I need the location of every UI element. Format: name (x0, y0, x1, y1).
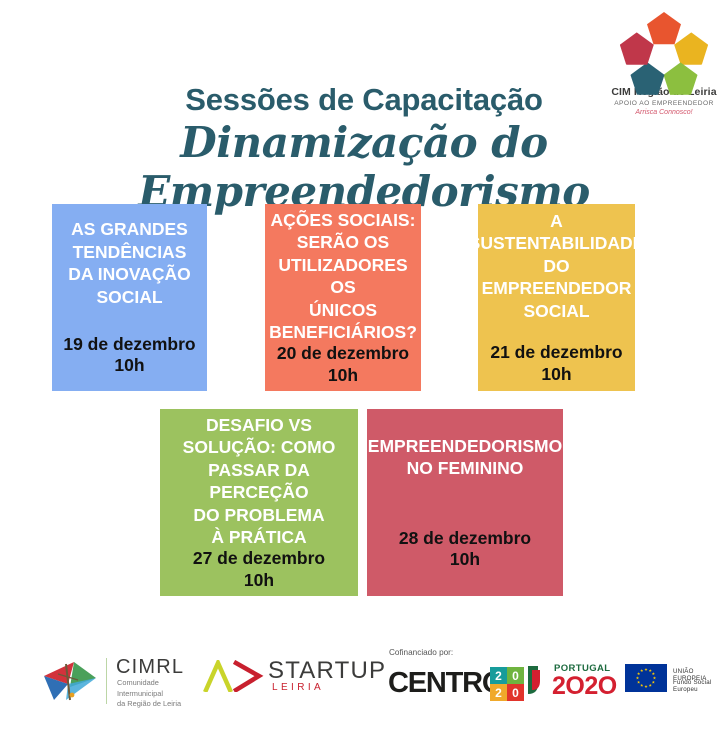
session-title: EMPREENDEDORISMO NO FEMININO (368, 435, 562, 480)
poster-title-primary: Sessões de Capacitação (0, 82, 728, 118)
session-date: 21 de dezembro (490, 342, 622, 363)
eu-star-icon (637, 681, 640, 684)
session-time: 10h (541, 364, 571, 385)
eu-star-icon (644, 685, 647, 688)
cimrl-logo: CIMRL Comunidade Intermunicipal da Regiã… (44, 652, 204, 708)
eu-star-icon (649, 684, 652, 687)
footer: CIMRL Comunidade Intermunicipal da Regiã… (0, 640, 728, 730)
session-title: AS GRANDES TENDÊNCIAS DA INOVAÇÃO SOCIAL (68, 218, 191, 308)
european-union-logo: UNIÃO EUROPEIA Fundo Social Europeu (625, 662, 727, 702)
session-date: 20 de dezembro (277, 343, 409, 364)
startup-chevron-icon (202, 660, 264, 692)
eu-line2: Fundo Social Europeu (673, 679, 727, 693)
session-card-4[interactable]: DESAFIO VS SOLUÇÃO: COMO PASSAR DA PERCE… (160, 409, 358, 596)
centro-digit-grid: 2 0 2 0 (490, 667, 524, 701)
centro-2020-logo: CENTRO 2 0 2 0 (388, 666, 518, 704)
startup-sub: LEIRIA (272, 682, 324, 693)
eu-star-icon (640, 669, 643, 672)
cimrl-divider (106, 658, 107, 704)
session-title: AÇÕES SOCIAIS: SERÃO OS UTILIZADORES OS … (269, 209, 417, 343)
session-time: 10h (450, 549, 480, 570)
session-time: 10h (114, 355, 144, 376)
session-card-3[interactable]: A SUSTENTABILIDADE DO EMPREENDEDOR SOCIA… (478, 204, 635, 391)
eu-star-icon (640, 684, 643, 687)
session-time: 10h (328, 365, 358, 386)
centro-digit: 0 (507, 684, 524, 701)
poster-title-secondary: Dinamização do Empreendedorismo (0, 118, 728, 216)
session-date: 27 de dezembro (193, 548, 325, 569)
eu-star-icon (652, 672, 655, 675)
eu-star-icon (653, 676, 656, 679)
cimrl-mark-icon (44, 660, 96, 702)
session-time: 10h (244, 570, 274, 591)
eu-star-icon (649, 669, 652, 672)
centro-digit: 2 (490, 684, 507, 701)
session-card-1[interactable]: AS GRANDES TENDÊNCIAS DA INOVAÇÃO SOCIAL… (52, 204, 207, 391)
logo-petals (608, 12, 720, 84)
portugal-2020-logo: PORTUGAL 2O2O (526, 660, 626, 704)
session-card-2[interactable]: AÇÕES SOCIAIS: SERÃO OS UTILIZADORES OS … (265, 204, 421, 391)
logo-petal-orange (647, 12, 681, 46)
startup-word: STARTUP (268, 657, 386, 685)
cofinanced-label: Cofinanciado por: (389, 648, 453, 657)
eu-star-icon (644, 668, 647, 671)
eu-star-icon (652, 681, 655, 684)
session-date: 28 de dezembro (399, 528, 531, 549)
eu-flag-icon (625, 664, 667, 692)
session-date: 19 de dezembro (63, 334, 195, 355)
eu-star-icon (637, 672, 640, 675)
centro-digit: 0 (507, 667, 524, 684)
session-title: A SUSTENTABILIDADE DO EMPREENDEDOR SOCIA… (469, 210, 645, 322)
portugal-flag-icon (526, 664, 550, 696)
centro-word: CENTRO (388, 667, 503, 700)
session-title: DESAFIO VS SOLUÇÃO: COMO PASSAR DA PERCE… (183, 414, 336, 548)
cimrl-name: CIMRL (116, 656, 184, 679)
eu-star-icon (636, 676, 639, 679)
session-card-5[interactable]: EMPREENDEDORISMO NO FEMININO 28 de dezem… (367, 409, 563, 596)
startup-leiria-logo: STARTUP LEIRIA (202, 656, 362, 702)
portugal-year: 2O2O (552, 672, 617, 701)
cimrl-subtitle: Comunidade Intermunicipal da Região de L… (117, 678, 181, 710)
centro-digit: 2 (490, 667, 507, 684)
